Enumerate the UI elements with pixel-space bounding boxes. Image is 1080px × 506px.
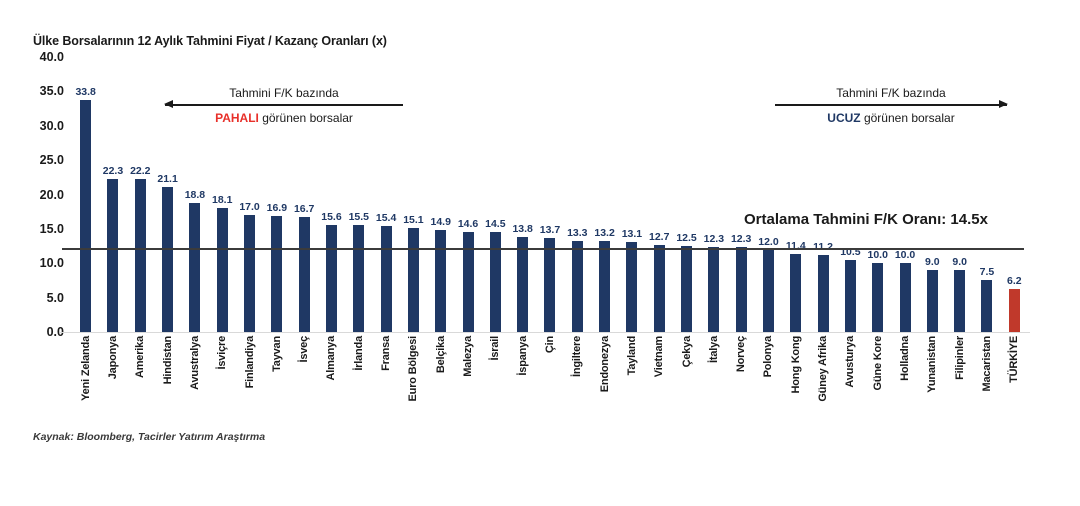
bar-slot: 13.2 — [591, 57, 618, 332]
bar-slot: 13.8 — [509, 57, 536, 332]
bar-value-label: 22.2 — [130, 165, 150, 177]
bar-slot: 33.8 — [72, 57, 99, 332]
bar[interactable]: 10.0 — [872, 263, 883, 332]
category-slot: Belçika — [427, 334, 454, 444]
bar-value-label: 13.2 — [594, 227, 614, 239]
category-slot: Endonezya — [591, 334, 618, 444]
x-axis-category-label: İsrail — [489, 336, 501, 361]
bar[interactable]: 18.8 — [189, 203, 200, 332]
bar-value-label: 7.5 — [980, 266, 995, 278]
category-slot: Polonya — [755, 334, 782, 444]
bar-value-label: 16.9 — [267, 202, 287, 214]
bar[interactable]: 15.5 — [353, 225, 364, 332]
bar[interactable]: 15.1 — [408, 228, 419, 332]
bar[interactable]: 16.7 — [299, 217, 310, 332]
x-axis-category-label: İsveç — [298, 336, 310, 363]
category-slot: Japonya — [99, 334, 126, 444]
bar[interactable]: 7.5 — [981, 280, 992, 332]
x-axis-category-label: İngiltere — [571, 336, 583, 377]
x-axis-category-label: Tayland — [626, 336, 638, 375]
bar-value-label: 9.0 — [925, 256, 940, 268]
category-slot: Filipinler — [946, 334, 973, 444]
x-axis-category-label: Güney Afrika — [817, 336, 829, 402]
bar-value-label: 11.2 — [813, 241, 833, 253]
y-axis-tick-label: 30.0 — [0, 119, 64, 133]
x-axis-category-label: Güne Kore — [872, 336, 884, 390]
bar-value-label: 10.0 — [868, 249, 888, 261]
x-axis-category-label: Çin — [544, 336, 556, 353]
bar[interactable]: 14.6 — [463, 232, 474, 332]
bar-slot: 14.6 — [454, 57, 481, 332]
bar-value-label: 15.6 — [321, 211, 341, 223]
x-axis-category-label: Vietnam — [653, 336, 665, 377]
y-axis-tick-label: 0.0 — [0, 325, 64, 339]
x-axis-category-label: Euro Bölgesi — [407, 336, 419, 401]
bar-value-label: 21.1 — [157, 173, 177, 185]
x-axis-category-label: Yeni Zelanda — [80, 336, 92, 401]
bar[interactable]: 16.9 — [271, 216, 282, 332]
y-axis-tick-label: 5.0 — [0, 291, 64, 305]
bar-value-label: 14.5 — [485, 218, 505, 230]
annotation-cheap-line2: UCUZ görünen borsalar — [775, 111, 1007, 126]
bar-value-label: 14.9 — [431, 216, 451, 228]
bar-value-label: 12.3 — [704, 233, 724, 245]
page-title: Ülke Borsalarının 12 Aylık Tahmini Fiyat… — [33, 34, 387, 48]
category-slot: İsviçre — [209, 334, 236, 444]
category-slot: İsrail — [482, 334, 509, 444]
bar-value-label: 14.6 — [458, 218, 478, 230]
bar-value-label: 12.5 — [676, 232, 696, 244]
category-slot: Almanya — [318, 334, 345, 444]
bar-value-label: 12.7 — [649, 231, 669, 243]
category-slot: Malezya — [454, 334, 481, 444]
bar[interactable]: 22.2 — [135, 179, 146, 332]
bar-value-label: 12.3 — [731, 233, 751, 245]
bar-value-label: 10.0 — [895, 249, 915, 261]
category-slot: Çekya — [673, 334, 700, 444]
annotation-cheap: Tahmini F/K bazında UCUZ görünen borsala… — [775, 86, 1007, 126]
bar-value-label: 17.0 — [239, 201, 259, 213]
category-labels: Yeni ZelandaJaponyaAmerikaHindistanAvust… — [72, 334, 1028, 444]
annotation-cheap-line1: Tahmini F/K bazında — [775, 86, 1007, 100]
x-axis-category-label: Çekya — [681, 336, 693, 367]
category-slot: İsveç — [291, 334, 318, 444]
bar[interactable]: 10.0 — [900, 263, 911, 332]
bar-slot: 15.1 — [400, 57, 427, 332]
bar-value-label: 18.1 — [212, 194, 232, 206]
bar-slot: 13.3 — [564, 57, 591, 332]
x-axis-category-label: Belçika — [435, 336, 447, 373]
x-axis-category-label: Malezya — [462, 336, 474, 377]
category-slot: Macaristan — [973, 334, 1000, 444]
bar-slot: 13.1 — [618, 57, 645, 332]
annotation-cheap-rest: görünen borsalar — [861, 111, 955, 125]
category-slot: Hindistan — [154, 334, 181, 444]
x-axis-category-label: İsviçre — [216, 336, 228, 369]
bar[interactable]: 18.1 — [217, 208, 228, 332]
bar-slot: 12.3 — [700, 57, 727, 332]
x-axis-category-label: Hong Kong — [790, 336, 802, 393]
bar-value-label: 16.7 — [294, 203, 314, 215]
category-slot: Yeni Zelanda — [72, 334, 99, 444]
category-slot: Avusturya — [837, 334, 864, 444]
bar[interactable]: 12.7 — [654, 245, 665, 332]
y-axis-tick-label: 40.0 — [0, 50, 64, 64]
bar[interactable]: 33.8 — [80, 100, 91, 332]
bar-slot: 12.7 — [646, 57, 673, 332]
x-axis-category-label: Yunanistan — [926, 336, 938, 393]
bar-value-label: 9.0 — [952, 256, 967, 268]
x-axis-category-label: İrlanda — [353, 336, 365, 371]
bar[interactable]: 12.3 — [736, 247, 747, 332]
bar[interactable]: 6.2 — [1009, 289, 1020, 332]
bar-slot: 12.5 — [673, 57, 700, 332]
bar-value-label: 15.1 — [403, 214, 423, 226]
average-line-label: Ortalama Tahmini F/K Oranı: 14.5x — [744, 211, 988, 228]
average-reference-line — [62, 248, 1024, 250]
y-axis-tick-label: 35.0 — [0, 84, 64, 98]
x-axis-category-label: Holladna — [899, 336, 911, 381]
bar-slot: 22.3 — [99, 57, 126, 332]
x-axis-category-label: Japonya — [107, 336, 119, 379]
x-axis-category-label: Almanya — [325, 336, 337, 380]
category-slot: Finlandiya — [236, 334, 263, 444]
bar[interactable]: 12.3 — [708, 247, 719, 332]
bar[interactable]: 17.0 — [244, 215, 255, 332]
bar-slot: 14.9 — [427, 57, 454, 332]
category-slot: Yunanistan — [919, 334, 946, 444]
category-slot: Amerika — [127, 334, 154, 444]
x-axis-category-label: Filipinler — [954, 336, 966, 380]
bar-slot: 13.7 — [536, 57, 563, 332]
x-axis-category-label: İspanya — [517, 336, 529, 376]
annotation-expensive-rest: görünen borsalar — [259, 111, 353, 125]
bar[interactable]: 13.2 — [599, 241, 610, 332]
bar[interactable]: 13.8 — [517, 237, 528, 332]
category-slot: İrlanda — [345, 334, 372, 444]
y-axis-tick-label: 15.0 — [0, 222, 64, 236]
bar[interactable]: 15.6 — [326, 225, 337, 332]
bar-slot: 14.5 — [482, 57, 509, 332]
bar-slot: 22.2 — [127, 57, 154, 332]
chart-page: Ülke Borsalarının 12 Aylık Tahmini Fiyat… — [0, 0, 1080, 506]
x-axis-category-label: Macaristan — [981, 336, 993, 391]
bar-value-label: 6.2 — [1007, 275, 1022, 287]
y-axis-tick-label: 25.0 — [0, 153, 64, 167]
bar[interactable]: 13.7 — [544, 238, 555, 332]
category-slot: Güney Afrika — [809, 334, 836, 444]
source-note: Kaynak: Bloomberg, Tacirler Yatırım Araş… — [33, 431, 265, 443]
x-axis-category-label: Norveç — [735, 336, 747, 372]
x-axis-category-label: Avustralya — [189, 336, 201, 390]
annotation-expensive-line1: Tahmini F/K bazında — [165, 86, 403, 100]
bar[interactable]: 22.3 — [107, 179, 118, 332]
x-axis-category-label: Fransa — [380, 336, 392, 371]
category-slot: Avustralya — [181, 334, 208, 444]
x-axis-category-label: Tayvan — [271, 336, 283, 372]
bar[interactable]: 10.5 — [845, 260, 856, 332]
category-slot: TÜRKİYE — [1001, 334, 1028, 444]
bar[interactable]: 13.3 — [572, 241, 583, 332]
bar-value-label: 18.8 — [185, 189, 205, 201]
annotation-expensive-keyword: PAHALI — [215, 111, 259, 125]
bar-value-label: 13.7 — [540, 224, 560, 236]
category-slot: Norveç — [728, 334, 755, 444]
bar[interactable]: 13.1 — [626, 242, 637, 332]
x-axis-category-label: Amerika — [134, 336, 146, 378]
bar-value-label: 33.8 — [75, 86, 95, 98]
category-slot: Güne Kore — [864, 334, 891, 444]
x-axis-category-label: Polonya — [762, 336, 774, 377]
bar[interactable]: 15.4 — [381, 226, 392, 332]
bar[interactable]: 9.0 — [954, 270, 965, 332]
bar-value-label: 13.1 — [622, 228, 642, 240]
annotation-cheap-keyword: UCUZ — [827, 111, 860, 125]
bar-value-label: 13.3 — [567, 227, 587, 239]
category-slot: Hong Kong — [782, 334, 809, 444]
category-slot: Çin — [536, 334, 563, 444]
category-slot: Tayland — [618, 334, 645, 444]
category-slot: İspanya — [509, 334, 536, 444]
annotation-expensive-line2: PAHALI görünen borsalar — [165, 111, 403, 126]
bar-value-label: 13.8 — [512, 223, 532, 235]
x-axis-category-label: Endonezya — [599, 336, 611, 392]
x-axis-baseline — [60, 332, 1030, 333]
category-slot: Fransa — [372, 334, 399, 444]
annotation-expensive-arrow-icon — [165, 100, 403, 109]
category-slot: İtalya — [700, 334, 727, 444]
bar[interactable]: 12.5 — [681, 246, 692, 332]
annotation-cheap-arrow-icon — [775, 100, 1007, 109]
y-axis-tick-label: 10.0 — [0, 256, 64, 270]
bar[interactable]: 14.9 — [435, 230, 446, 332]
category-slot: İngiltere — [564, 334, 591, 444]
x-axis-category-label: İtalya — [708, 336, 720, 363]
bar-value-label: 22.3 — [103, 165, 123, 177]
category-slot: Holladna — [891, 334, 918, 444]
bar-value-label: 15.4 — [376, 212, 396, 224]
annotation-expensive: Tahmini F/K bazında PAHALI görünen borsa… — [165, 86, 403, 126]
bar-value-label: 12.0 — [758, 236, 778, 248]
x-axis-category-label: Hindistan — [162, 336, 174, 384]
x-axis-category-label: TÜRKİYE — [1008, 336, 1020, 383]
x-axis-category-label: Finlandiya — [244, 336, 256, 388]
bar[interactable]: 11.2 — [818, 255, 829, 332]
bar[interactable]: 11.4 — [790, 254, 801, 332]
bar-slot: 12.3 — [728, 57, 755, 332]
category-slot: Vietnam — [646, 334, 673, 444]
category-slot: Tayvan — [263, 334, 290, 444]
x-axis-category-label: Avusturya — [844, 336, 856, 388]
bar[interactable]: 12.0 — [763, 250, 774, 333]
y-axis-tick-label: 20.0 — [0, 188, 64, 202]
bar[interactable]: 9.0 — [927, 270, 938, 332]
bar[interactable]: 21.1 — [162, 187, 173, 332]
bar-value-label: 15.5 — [349, 211, 369, 223]
category-slot: Euro Bölgesi — [400, 334, 427, 444]
